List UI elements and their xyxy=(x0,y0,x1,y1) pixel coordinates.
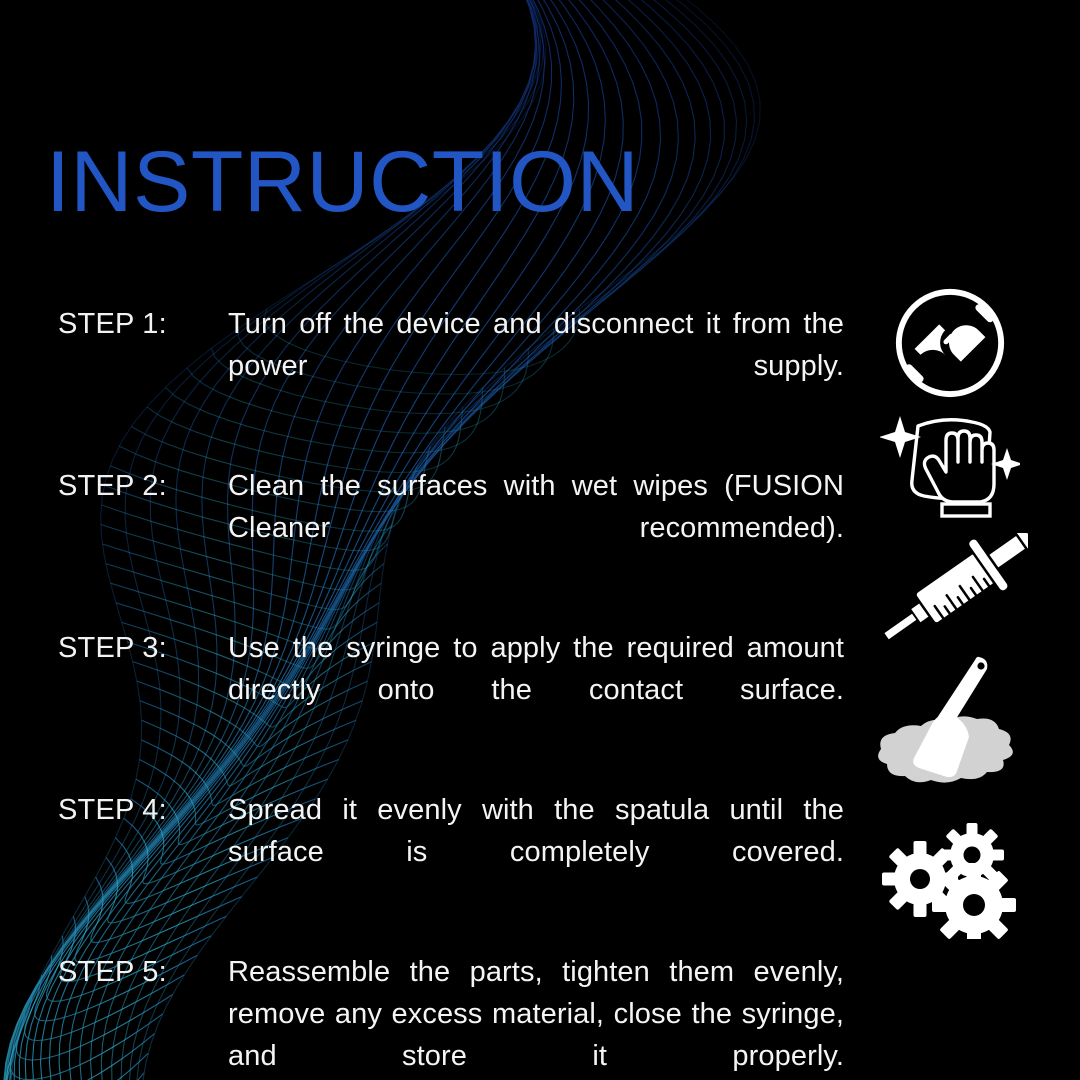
list-item: STEP 3: Use the syringe to apply the req… xyxy=(58,627,844,753)
syringe-icon xyxy=(872,533,1028,653)
hand-wipe-sparkle-icon xyxy=(880,408,1020,524)
step-text: Use the syringe to apply the required am… xyxy=(228,627,844,753)
no-plug-icon xyxy=(891,284,1009,402)
step-label: STEP 5: xyxy=(58,951,228,993)
step-icon-slot-1 xyxy=(860,280,1040,405)
spatula-paste-icon xyxy=(867,653,1033,791)
step-icon-slot-5 xyxy=(860,820,1040,940)
step-label: STEP 2: xyxy=(58,465,228,507)
step-label: STEP 1: xyxy=(58,303,228,345)
list-item: STEP 2: Clean the surfaces with wet wipe… xyxy=(58,465,844,591)
list-item: STEP 1: Turn off the device and disconne… xyxy=(58,303,844,429)
step-icon-slot-4 xyxy=(860,652,1040,792)
step-label: STEP 3: xyxy=(58,627,228,669)
step-text: Reassemble the parts, tighten them evenl… xyxy=(228,951,844,1080)
page-title: INSTRUCTION xyxy=(46,139,639,225)
step-icon-slot-2 xyxy=(860,406,1040,526)
gears-icon xyxy=(880,821,1020,939)
step-text: Spread it evenly with the spatula until … xyxy=(228,789,844,915)
steps-list: STEP 1: Turn off the device and disconne… xyxy=(58,303,844,1080)
list-item: STEP 5: Reassemble the parts, tighten th… xyxy=(58,951,844,1080)
step-label: STEP 4: xyxy=(58,789,228,831)
instruction-poster: INSTRUCTION STEP 1: Turn off the device … xyxy=(0,0,1080,1080)
list-item: STEP 4: Spread it evenly with the spatul… xyxy=(58,789,844,915)
step-icon-slot-3 xyxy=(860,532,1040,654)
step-text: Clean the surfaces with wet wipes (FUSIO… xyxy=(228,465,844,591)
step-text: Turn off the device and disconnect it fr… xyxy=(228,303,844,429)
